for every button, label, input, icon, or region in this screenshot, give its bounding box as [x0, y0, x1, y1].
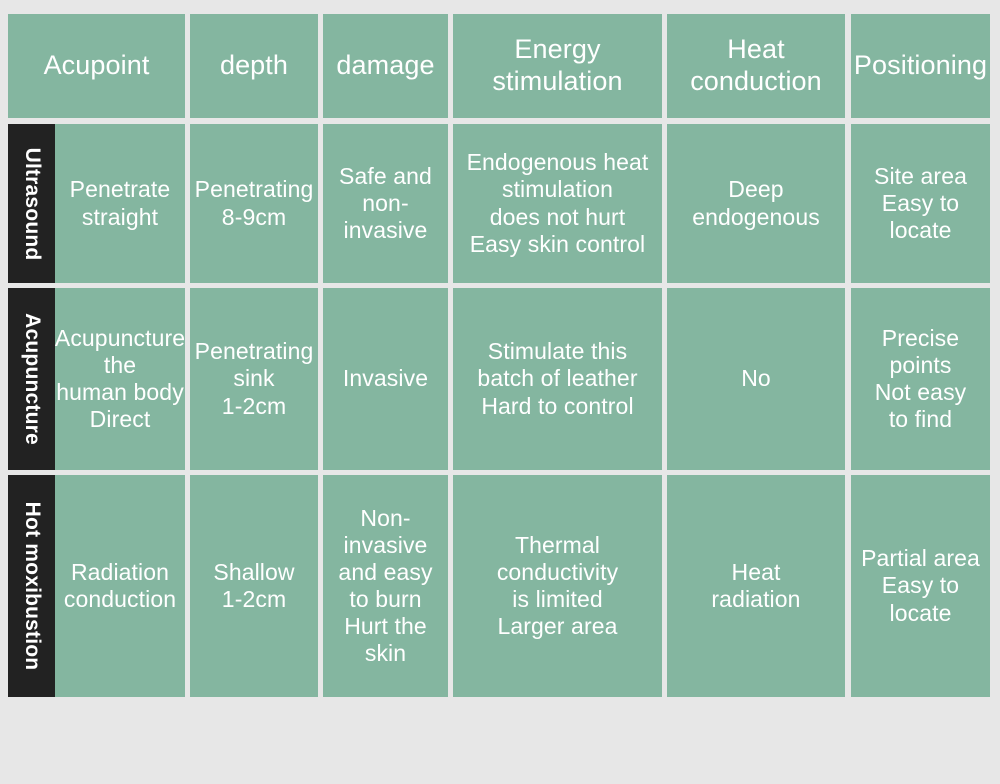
column-header-energy-stimulation: Energy stimulation — [453, 14, 662, 118]
cell-acupuncture-heat-conduction: No — [667, 288, 845, 470]
column-header-acupoint: Acupoint — [8, 14, 185, 118]
row-label-acupuncture-text: Acupuncture — [20, 313, 44, 445]
cell-acupuncture-damage: Invasive — [323, 288, 448, 470]
column-header-heat-conduction: Heat conduction — [667, 14, 845, 118]
cell-acupuncture-positioning: Precise points Not easy to find — [851, 288, 990, 470]
column-header-positioning: Positioning — [851, 14, 990, 118]
row-label-acupuncture: Acupuncture — [8, 288, 55, 470]
column-header-depth: depth — [190, 14, 318, 118]
row-label-hot-moxibustion-text: Hot moxibustion — [20, 502, 44, 671]
cell-ultrasound-heat-conduction: Deep endogenous — [667, 124, 845, 283]
column-header-damage: damage — [323, 14, 448, 118]
cell-hot-moxibustion-heat-conduction: Heat radiation — [667, 475, 845, 697]
cell-ultrasound-positioning: Site area Easy to locate — [851, 124, 990, 283]
comparison-table: Acupoint depth damage Energy stimulation… — [0, 0, 1000, 784]
cell-ultrasound-energy-stimulation: Endogenous heat stimulation does not hur… — [453, 124, 662, 283]
cell-hot-moxibustion-depth: Shallow 1-2cm — [190, 475, 318, 697]
row-label-hot-moxibustion: Hot moxibustion — [8, 475, 55, 697]
cell-hot-moxibustion-positioning: Partial area Easy to locate — [851, 475, 990, 697]
cell-hot-moxibustion-energy-stimulation: Thermal conductivity is limited Larger a… — [453, 475, 662, 697]
cell-ultrasound-depth: Penetrating 8-9cm — [190, 124, 318, 283]
cell-acupuncture-energy-stimulation: Stimulate this batch of leather Hard to … — [453, 288, 662, 470]
cell-hot-moxibustion-damage: Non- invasive and easy to burn Hurt the … — [323, 475, 448, 697]
row-label-ultrasound-text: Ultrasound — [20, 147, 44, 260]
cell-acupuncture-depth: Penetrating sink 1-2cm — [190, 288, 318, 470]
row-label-ultrasound: Ultrasound — [8, 124, 55, 283]
cell-ultrasound-damage: Safe and non- invasive — [323, 124, 448, 283]
